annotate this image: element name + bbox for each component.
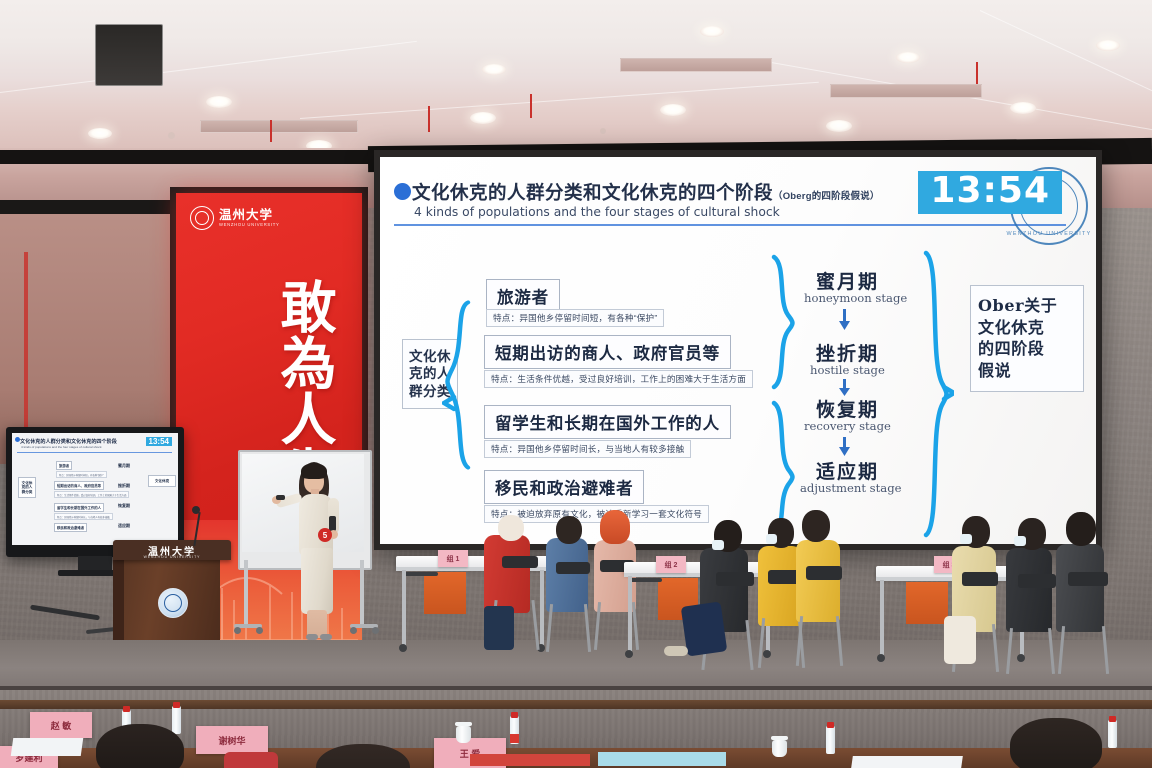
ceiling-wire bbox=[530, 94, 532, 118]
stage-label-cn: 恢复期 bbox=[816, 395, 879, 422]
front-row-nameplate: 谢树华 bbox=[196, 726, 268, 754]
stage-label-en: honeymoon stage bbox=[804, 291, 907, 305]
bottle-cap bbox=[827, 722, 834, 728]
ceiling-air-vent bbox=[830, 84, 982, 98]
student-shoe bbox=[664, 646, 688, 656]
whiteboard-caster bbox=[234, 627, 241, 634]
table-caster bbox=[877, 654, 885, 662]
podium-emblem-icon bbox=[158, 588, 188, 618]
front-row-attendee-collar bbox=[224, 752, 278, 768]
face-mask bbox=[960, 534, 972, 544]
table-caster bbox=[399, 644, 407, 652]
front-row-document bbox=[11, 738, 84, 756]
table-caster bbox=[625, 650, 633, 658]
stage-label-cn: 蜜月期 bbox=[816, 267, 879, 294]
presentation-slide: 文化休克的人群分类和文化休克的四个阶段（Oberg的四阶段假说） 4 kinds… bbox=[380, 157, 1096, 544]
chair-back bbox=[1018, 574, 1056, 588]
whiteboard-caster bbox=[256, 627, 263, 634]
presenter-skirt bbox=[301, 548, 333, 614]
student-head bbox=[498, 515, 524, 541]
presenter-hair-front bbox=[301, 463, 327, 479]
chair-back bbox=[806, 566, 842, 580]
ceiling-downlight bbox=[896, 52, 920, 63]
seal-text: WENZHOU UNIVERSITY bbox=[1006, 231, 1091, 237]
student-body bbox=[796, 540, 840, 622]
slide-title-cn: 文化休克的人群分类和文化休克的四个阶段（Oberg的四阶段假说） bbox=[412, 179, 880, 205]
group-placard: 组 2 bbox=[656, 556, 686, 573]
student-body bbox=[1006, 548, 1052, 632]
table-caster bbox=[763, 650, 771, 658]
table-modesty-panel bbox=[906, 582, 948, 624]
student-body bbox=[484, 535, 530, 613]
stage-label-en: recovery stage bbox=[804, 419, 891, 433]
table-modesty-panel bbox=[424, 572, 466, 614]
ceiling-sprinkler bbox=[168, 132, 175, 139]
side-wall-stripe bbox=[24, 252, 28, 432]
table-leg bbox=[628, 576, 632, 652]
conclusion-about: 关于 bbox=[1024, 298, 1057, 315]
bottle-cap bbox=[173, 702, 180, 708]
chair-back bbox=[556, 562, 590, 574]
stage-label-cn: 适应期 bbox=[816, 457, 879, 484]
ceiling bbox=[0, 0, 1152, 150]
front-row-attendee-head bbox=[96, 724, 184, 768]
microphone-head-icon bbox=[192, 506, 200, 514]
population-note: 特点：异国他乡停留时间长，与当地人有较多接触 bbox=[484, 440, 691, 458]
left-brace bbox=[442, 275, 472, 525]
ceiling-wire bbox=[270, 120, 272, 142]
ceiling-sprinkler bbox=[600, 128, 606, 134]
table-leg bbox=[880, 580, 884, 656]
banner-university-logo: 温州大学 WENZHOU UNIVERSITY bbox=[190, 205, 310, 231]
conclusion-line-3: 的四阶段 bbox=[978, 339, 1076, 361]
mini-category-label: 文化休克的人群分类 bbox=[18, 477, 36, 498]
group-brace-upper bbox=[768, 253, 802, 539]
table-brace bbox=[404, 572, 438, 576]
table-leg bbox=[540, 570, 544, 646]
mini-divider bbox=[17, 452, 172, 453]
student-body bbox=[1056, 544, 1104, 632]
population-note: 特点：生活条件优越，受过良好培训，工作上的困难大于生活方面 bbox=[484, 370, 753, 388]
population-box: 旅游者 bbox=[486, 279, 560, 313]
conclusion-line-4: 假说 bbox=[978, 361, 1076, 383]
chair-back bbox=[716, 572, 754, 586]
presenter-handheld-microphone bbox=[329, 516, 336, 531]
slide-title-main: 文化休克的人群分类和文化休克的四个阶段 bbox=[412, 182, 773, 203]
whiteboard-leg bbox=[244, 560, 248, 626]
mini-population-note: 特点：异国他乡停留时间短，有各种“保护” bbox=[56, 471, 107, 478]
face-mask bbox=[1014, 536, 1026, 546]
stage-label-cn: 挫折期 bbox=[816, 339, 879, 366]
mini-clock: 13:54 bbox=[146, 437, 172, 446]
ceiling-air-vent bbox=[200, 120, 358, 133]
front-row-blue-folder bbox=[598, 752, 726, 766]
chair-back bbox=[502, 556, 538, 568]
ceiling-downlight bbox=[1010, 102, 1036, 114]
table-brace bbox=[630, 578, 662, 582]
banner-university-name-cn: 温州大学 bbox=[219, 209, 280, 222]
bottle-cap bbox=[123, 706, 130, 712]
mini-stage-label: 恢复期 bbox=[118, 503, 130, 509]
ceiling-downlight bbox=[206, 96, 232, 108]
conclusion-brace bbox=[920, 249, 954, 539]
water-bottle bbox=[1108, 720, 1117, 748]
student-head bbox=[1066, 512, 1096, 546]
whiteboard-caster bbox=[350, 627, 357, 634]
mini-stage-label: 蜜月期 bbox=[118, 463, 130, 469]
presenter-number-badge: 5 bbox=[318, 528, 332, 542]
front-row-attendee-head bbox=[1010, 718, 1102, 768]
bottle-label bbox=[510, 734, 519, 743]
group-placard: 组 1 bbox=[438, 550, 468, 567]
mini-population-box: 留学生和长期在国外工作的人 bbox=[54, 503, 104, 512]
confidence-monitor-screen: 文化休克的人群分类和文化休克的四个阶段 4 kinds of populatio… bbox=[12, 433, 178, 545]
ceiling-downlight bbox=[1096, 40, 1120, 51]
ceiling-downlight bbox=[826, 120, 852, 132]
bottle-cap bbox=[1109, 716, 1116, 722]
tea-cup bbox=[456, 726, 471, 743]
stage-label-en: hostile stage bbox=[810, 363, 885, 377]
water-bottle bbox=[172, 706, 181, 734]
stage-label-en: adjustment stage bbox=[800, 481, 901, 495]
banner-university-name-en: WENZHOU UNIVERSITY bbox=[219, 222, 280, 227]
conclusion-box: Ober关于 文化休克 的四阶段 假说 bbox=[970, 285, 1084, 392]
mini-stage-label: 适应期 bbox=[118, 523, 130, 529]
front-row-document bbox=[851, 756, 963, 768]
student-head bbox=[600, 510, 630, 544]
chair-back bbox=[1068, 572, 1108, 586]
face-mask bbox=[712, 540, 724, 550]
front-row-nameplate: 赵 敏 bbox=[30, 712, 92, 738]
mini-stage-label: 挫折期 bbox=[118, 483, 130, 489]
chair-back bbox=[962, 572, 998, 586]
student-head bbox=[556, 516, 582, 544]
clock-overlay: 13:54 bbox=[918, 171, 1062, 214]
conclusion-ober: Ober bbox=[978, 296, 1024, 315]
whiteboard-caster bbox=[372, 627, 379, 634]
mini-population-box: 移民和政治避难者 bbox=[54, 523, 87, 532]
ceiling-downlight bbox=[660, 104, 686, 116]
population-note: 特点：异国他乡停留时间短，有各种“保护” bbox=[486, 309, 664, 327]
bottle-cap bbox=[511, 712, 518, 718]
whiteboard-leg bbox=[360, 560, 364, 626]
conclusion-line-1: Ober关于 bbox=[978, 295, 1076, 318]
ceiling-downlight bbox=[88, 128, 112, 139]
conclusion-line-2: 文化休克 bbox=[978, 318, 1076, 340]
slide-title-en: 4 kinds of populations and the four stag… bbox=[414, 205, 780, 219]
ceiling-downlight bbox=[470, 112, 496, 124]
ceiling-speaker bbox=[95, 24, 163, 86]
podium-university-name-en: WENZHOU UNIVERSITY bbox=[132, 555, 212, 559]
tea-cup-lid bbox=[455, 722, 472, 726]
title-divider bbox=[394, 224, 1066, 226]
mini-conclusion-box: 文化休克 bbox=[148, 475, 176, 487]
student-legs bbox=[944, 616, 976, 664]
table-leg bbox=[402, 570, 406, 646]
wall-trim bbox=[0, 200, 172, 214]
lecture-hall-photo: 温州大学 WENZHOU UNIVERSITY 敢為人先 文化休克的人群分类和文… bbox=[0, 0, 1152, 768]
table-caster bbox=[1017, 654, 1025, 662]
presentation-clicker bbox=[276, 495, 285, 500]
student-head bbox=[802, 510, 830, 542]
title-bullet-icon bbox=[394, 183, 411, 200]
wenzhou-seal-icon bbox=[190, 206, 214, 230]
ceiling-air-vent bbox=[620, 58, 772, 72]
tea-cup-lid bbox=[771, 736, 788, 740]
slide-title-note: （Oberg的四阶段假说） bbox=[773, 191, 880, 202]
mini-population-note: 特点：生活条件优越，受过良好培训，工作上的困难大于生活方面 bbox=[54, 491, 129, 498]
ceiling-downlight bbox=[700, 26, 724, 37]
tea-cup bbox=[772, 740, 787, 757]
population-box: 留学生和长期在国外工作的人 bbox=[484, 405, 731, 439]
stage-arrow-icon bbox=[838, 437, 851, 457]
ceiling-wire bbox=[428, 106, 430, 132]
water-bottle bbox=[826, 726, 835, 754]
mini-population-box: 旅游者 bbox=[56, 461, 72, 470]
mini-slide-title: 文化休克的人群分类和文化休克的四个阶段 bbox=[20, 438, 117, 445]
ceiling-downlight bbox=[482, 64, 506, 75]
ceiling-wire bbox=[976, 62, 978, 84]
population-box: 移民和政治避难者 bbox=[484, 470, 644, 504]
mini-slide-title-en: 4 kinds of populations and the four stag… bbox=[21, 445, 102, 449]
face-mask bbox=[766, 534, 777, 544]
stage-arrow-icon bbox=[838, 309, 851, 331]
student-legs bbox=[484, 606, 514, 650]
mini-population-note: 特点：异国他乡停留时间长，与当地人有较多接触 bbox=[54, 513, 113, 520]
population-box: 短期出访的商人、政府官员等 bbox=[484, 335, 731, 369]
mini-population-box: 短期出访的商人、政府官员等 bbox=[54, 481, 104, 490]
student-body bbox=[546, 538, 588, 612]
front-row-red-folder bbox=[470, 754, 590, 766]
